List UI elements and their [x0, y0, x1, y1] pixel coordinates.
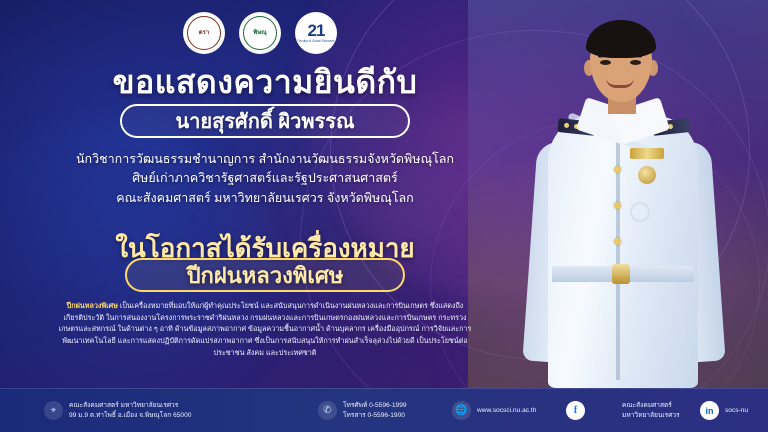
footer-linkedin-label[interactable]: socs-nu	[725, 406, 748, 416]
award-description-highlight: ปีกฝนหลวงพิเศษ	[67, 301, 118, 310]
elephant-emblem-label: ตรา	[199, 30, 210, 36]
uniform-placket	[616, 120, 620, 380]
footer-facebook-line-2: มหาวิทยาลัยนเรศวร	[622, 411, 680, 421]
footer-bar: ⌖ คณะสังคมศาสตร์ มหาวิทยาลัยนเรศวร 99 ม.…	[0, 388, 768, 432]
faculty-logo-number: 21	[308, 22, 325, 39]
province-emblem-logo: พิษณุ	[239, 12, 281, 54]
position-line-2: ศิษย์เก่าภาควิชารัฐศาสตร์และรัฐประศาสนศา…	[0, 169, 530, 188]
footer-phone: ✆ โทรศัพท์ 0-5596-1999 โทรสาร 0-5596-190…	[318, 401, 407, 420]
eye-right	[630, 60, 641, 65]
faculty-21-logo: 21 Faculty of Social Sciences	[295, 12, 337, 54]
footer-address-line-1: คณะสังคมศาสตร์ มหาวิทยาลัยนเรศวร	[69, 401, 191, 411]
honoree-name-pill: นายสุรศักดิ์ ผิวพรรณ	[120, 104, 410, 138]
phone-icon: ✆	[318, 401, 337, 420]
uniform-button	[614, 202, 621, 209]
honoree-position-block: นักวิชาการวัฒนธรรมชำนาญการ สำนักงานวัฒนธ…	[0, 150, 530, 208]
elephant-emblem-logo: ตรา	[183, 12, 225, 54]
footer-linkedin[interactable]: in socs-nu	[700, 401, 748, 420]
footer-phone-line-2: โทรสาร 0-5596-1900	[343, 411, 407, 421]
hair	[586, 20, 656, 58]
footer-facebook[interactable]: f	[566, 401, 585, 420]
province-emblem-label: พิษณุ	[253, 30, 266, 36]
footer-website-label[interactable]: www.socsci.nu.ac.th	[477, 406, 536, 416]
linkedin-icon[interactable]: in	[700, 401, 719, 420]
footer-address-line-2: 99 ม.9 ต.ท่าโพธิ์ อ.เมือง จ.พิษณุโลก 650…	[69, 411, 191, 421]
congratulation-poster: ตรา พิษณุ 21 Faculty of Social Sciences …	[0, 0, 768, 432]
wreath-insignia-icon	[630, 202, 650, 222]
logo-row: ตรา พิษณุ 21 Faculty of Social Sciences	[0, 12, 520, 54]
footer-phone-line-1: โทรศัพท์ 0-5596-1999	[343, 401, 407, 411]
person-figure	[504, 16, 744, 388]
award-description-block: ปีกฝนหลวงพิเศษ เป็นเครื่องหมายที่มอบให้แ…	[55, 300, 475, 358]
uniform-button	[614, 166, 621, 173]
footer-address: ⌖ คณะสังคมศาสตร์ มหาวิทยาลัยนเรศวร 99 ม.…	[44, 401, 191, 420]
position-line-1: นักวิชาการวัฒนธรรมชำนาญการ สำนักงานวัฒนธ…	[0, 150, 530, 169]
award-description: ปีกฝนหลวงพิเศษ เป็นเครื่องหมายที่มอบให้แ…	[55, 300, 475, 358]
eye-left	[600, 60, 611, 65]
footer-facebook-line-1: คณะสังคมศาสตร์	[622, 401, 680, 411]
gold-badge-icon	[638, 166, 656, 184]
medal-ribbon-bar	[630, 148, 664, 159]
white-uniform-torso	[548, 116, 698, 388]
footer-website[interactable]: 🌐 www.socsci.nu.ac.th	[452, 401, 536, 420]
award-description-text: เป็นเครื่องหมายที่มอบให้แก่ผู้ทำคุณประโย…	[59, 301, 472, 357]
belt-buckle	[612, 264, 630, 284]
uniform-button	[614, 238, 621, 245]
award-name-pill: ปีกฝนหลวงพิเศษ	[125, 258, 405, 292]
award-name: ปีกฝนหลวงพิเศษ	[187, 258, 344, 293]
position-line-3: คณะสังคมศาสตร์ มหาวิทยาลัยนเรศวร จังหวัด…	[0, 189, 530, 208]
globe-icon: 🌐	[452, 401, 471, 420]
facebook-icon[interactable]: f	[566, 401, 585, 420]
location-pin-icon: ⌖	[44, 401, 63, 420]
page-title: ขอแสดงความยินดีกับ	[0, 57, 530, 108]
honoree-name: นายสุรศักดิ์ ผิวพรรณ	[175, 105, 354, 137]
footer-facebook-name: คณะสังคมศาสตร์ มหาวิทยาลัยนเรศวร	[622, 401, 680, 420]
faculty-logo-sub: Faculty of Social Sciences	[297, 40, 334, 43]
